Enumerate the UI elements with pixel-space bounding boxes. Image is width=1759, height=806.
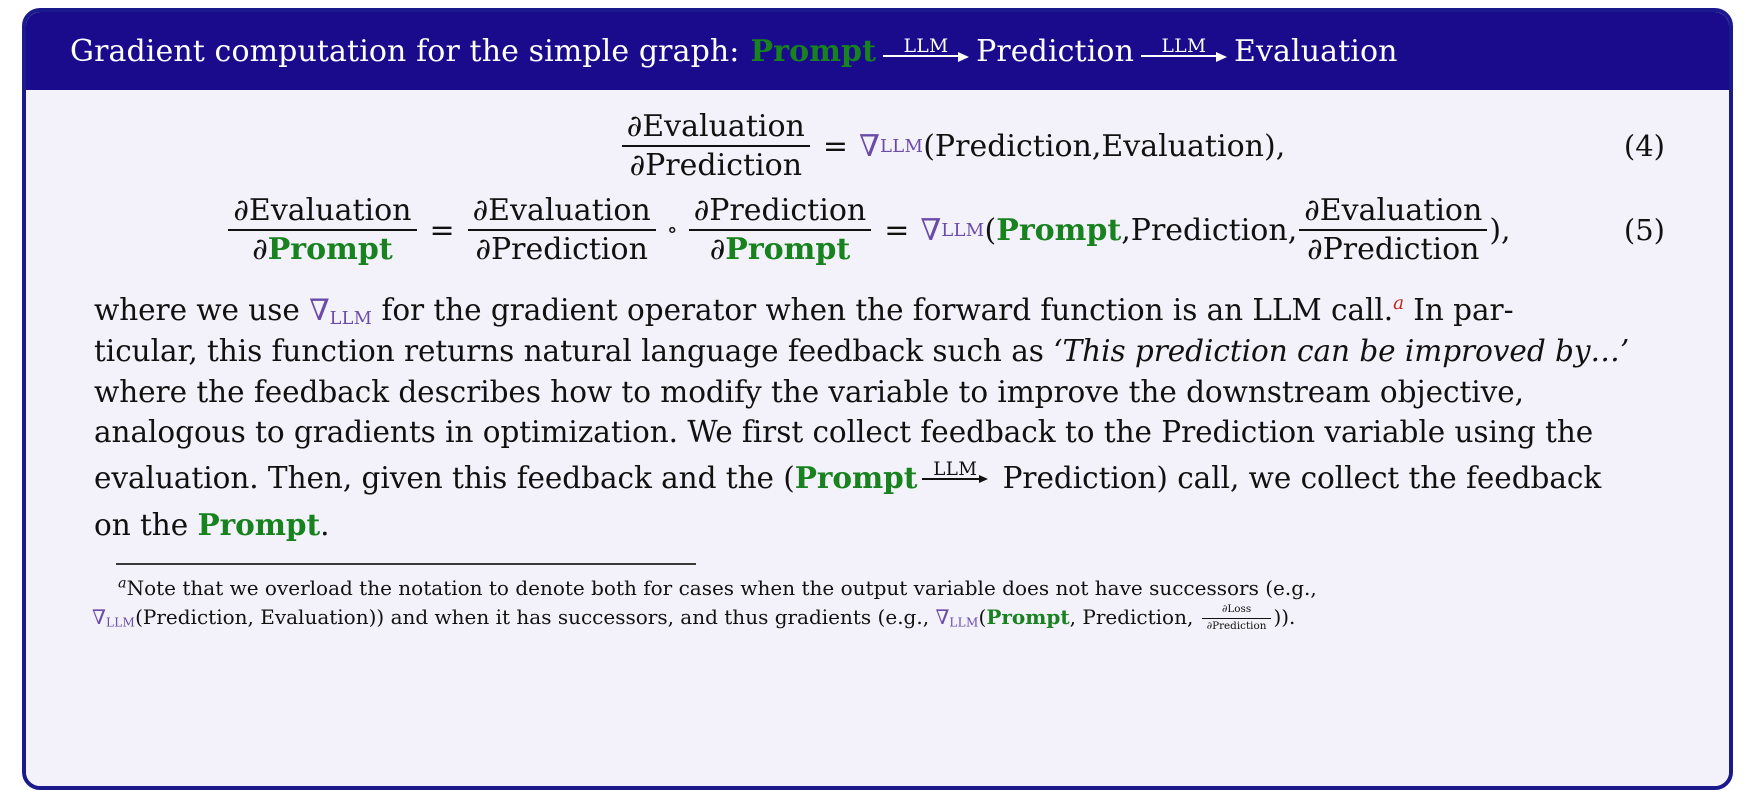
nabla-icon: ∇ [859, 129, 880, 164]
fraction-bar [622, 145, 810, 147]
line1-a: where we use [94, 293, 309, 327]
footnote-text-1: Note that we overload the notation to de… [127, 576, 1317, 600]
arrow-label-2: LLM [1141, 38, 1227, 57]
comma: , [1092, 129, 1102, 164]
equation-4: ∂Evaluation ∂Prediction = ∇LLM(Predictio… [52, 104, 1703, 188]
arg-prompt: Prompt [996, 213, 1121, 248]
nabla-subscript-llm-footnote-2: LLM [949, 616, 978, 630]
denominator: ∂Prediction [470, 232, 652, 267]
footnote-text-2a: (Prediction, Evaluation)) and when it ha… [135, 605, 935, 629]
arrow-head [958, 52, 969, 62]
frac-dEval-dPred-2: ∂Evaluation ∂Prediction [468, 194, 656, 267]
arg-prediction: Prediction [935, 129, 1092, 164]
arrow-head [979, 475, 988, 483]
equation-5-body: ∂Evaluation ∂Prompt = ∂Evaluation ∂Predi… [226, 194, 1510, 267]
close-paren: ) [1264, 129, 1276, 164]
title-lead: Gradient computation for the simple grap… [70, 34, 740, 69]
equation-4-body: ∂Evaluation ∂Prediction = ∇LLM(Predictio… [620, 110, 1285, 183]
footnote-marker-a[interactable]: a [1393, 293, 1404, 314]
denominator: ∂Prediction [625, 148, 807, 183]
equals-sign: = [823, 129, 848, 164]
equals-sign: = [430, 213, 455, 248]
frac-dLoss-dPred: ∂Loss∂Prediction [1202, 604, 1272, 632]
nabla-icon-footnote-2: ∇ [935, 605, 949, 629]
frac-dEval-dPred: ∂Evaluation ∂Prediction [622, 110, 810, 183]
paragraph-line-4: analogous to gradients in optimization. … [94, 412, 1661, 452]
line5-c: Prediction) call, we collect the feedbac… [993, 461, 1601, 495]
nabla-icon-footnote-1: ∇ [92, 605, 106, 629]
llm-arrow-icon-3: LLM [922, 459, 988, 489]
fraction-bar [228, 229, 416, 231]
frac-dEval-dPrompt: ∂Evaluation ∂Prompt [228, 194, 416, 267]
arrow-shaft [883, 55, 960, 57]
equation-block: ∂Evaluation ∂Prediction = ∇LLM(Predictio… [52, 104, 1703, 272]
nabla-subscript-llm-inline: LLM [330, 309, 373, 329]
trailing-comma: , [1501, 213, 1511, 248]
trailing-comma: , [1276, 129, 1286, 164]
frac-dPred-dPrompt: ∂Prediction ∂Prompt [689, 194, 871, 267]
title-node-prompt: Prompt [751, 34, 877, 69]
denominator: ∂Prompt [705, 232, 855, 267]
denominator: ∂Prediction [1302, 232, 1484, 267]
footnote-text-2d: )). [1273, 605, 1295, 629]
arg-evaluation: Evaluation [1101, 129, 1264, 164]
line5-a: evaluation. Then, given this feedback an… [94, 461, 795, 495]
line1-b: for the gradient operator when the forwa… [372, 293, 1393, 327]
footnote-label-a: a [118, 575, 127, 591]
footnote-text-2c: , Prediction, [1070, 605, 1200, 629]
box-body: ∂Evaluation ∂Prediction = ∇LLM(Predictio… [26, 90, 1729, 786]
arrow-shaft [1141, 55, 1218, 57]
line2-a: ticular, this function returns natural l… [94, 334, 1053, 368]
footnote-rule [116, 563, 696, 565]
title-node-prediction: Prediction [976, 34, 1134, 69]
comma: , [1121, 213, 1131, 248]
footnote-prompt: Prompt [986, 605, 1069, 629]
numerator: ∂Evaluation [622, 110, 810, 145]
close-paren: ) [1489, 213, 1501, 248]
numerator: ∂Loss [1217, 604, 1256, 617]
fraction-bar [468, 229, 656, 231]
numerator: ∂Evaluation [468, 194, 656, 229]
nabla-subscript-llm-footnote-1: LLM [106, 616, 135, 630]
arg-prediction: Prediction [1131, 213, 1288, 248]
footnote-line-1: aNote that we overload the notation to d… [92, 574, 1663, 603]
fraction-bar [1299, 229, 1487, 231]
line2-italic-quote: ‘This prediction can be improved by…’ [1053, 334, 1629, 368]
nabla-subscript-llm: LLM [880, 136, 923, 157]
arrow-label-1: LLM [883, 38, 969, 57]
llm-arrow-icon-1: LLM [883, 36, 969, 66]
equation-number-4: (4) [1624, 129, 1665, 163]
paragraph-line-2: ticular, this function returns natural l… [94, 331, 1661, 371]
line6-a: on the [94, 508, 197, 542]
arrow-shaft [922, 478, 980, 480]
nabla-icon-inline: ∇ [309, 293, 330, 327]
numerator: ∂Evaluation [228, 194, 416, 229]
line1-c: In par- [1404, 293, 1514, 327]
nabla-icon: ∇ [920, 213, 941, 248]
fraction-bar [689, 229, 871, 231]
frac-dEval-dPred-arg: ∂Evaluation ∂Prediction [1299, 194, 1487, 267]
open-paren: ( [985, 213, 997, 248]
theorem-box: Gradient computation for the simple grap… [22, 8, 1733, 790]
paragraph-line-6: on the Prompt. [94, 505, 1661, 545]
paragraph-line-1: where we use ∇LLM for the gradient opera… [94, 290, 1661, 331]
composition-operator: ∘ [667, 217, 678, 243]
body-paragraph: where we use ∇LLM for the gradient opera… [94, 290, 1661, 545]
line6-prompt: Prompt [197, 507, 320, 542]
comma-2: , [1288, 213, 1298, 248]
denominator: ∂Prompt [247, 232, 397, 267]
open-paren: ( [923, 129, 935, 164]
footnote-line-2: ∇LLM(Prediction, Evaluation)) and when i… [92, 603, 1663, 633]
equals-sign-2: = [884, 213, 909, 248]
denominator: ∂Prediction [1202, 620, 1272, 633]
llm-arrow-icon-2: LLM [1141, 36, 1227, 66]
footnote-block: aNote that we overload the notation to d… [92, 574, 1663, 633]
numerator: ∂Evaluation [1299, 194, 1487, 229]
paragraph-line-3: where the feedback describes how to modi… [94, 372, 1661, 412]
line5-prompt: Prompt [795, 460, 918, 495]
box-title-bar: Gradient computation for the simple grap… [26, 12, 1729, 90]
paragraph-line-5: evaluation. Then, given this feedback an… [94, 452, 1661, 505]
title-node-evaluation: Evaluation [1234, 34, 1398, 69]
arrow-head [1216, 52, 1227, 62]
line6-c: . [320, 508, 329, 542]
nabla-subscript-llm: LLM [941, 220, 984, 241]
equation-5: ∂Evaluation ∂Prompt = ∂Evaluation ∂Predi… [52, 188, 1703, 272]
equation-number-5: (5) [1624, 213, 1665, 247]
numerator: ∂Prediction [689, 194, 871, 229]
fraction-bar [1202, 618, 1272, 619]
